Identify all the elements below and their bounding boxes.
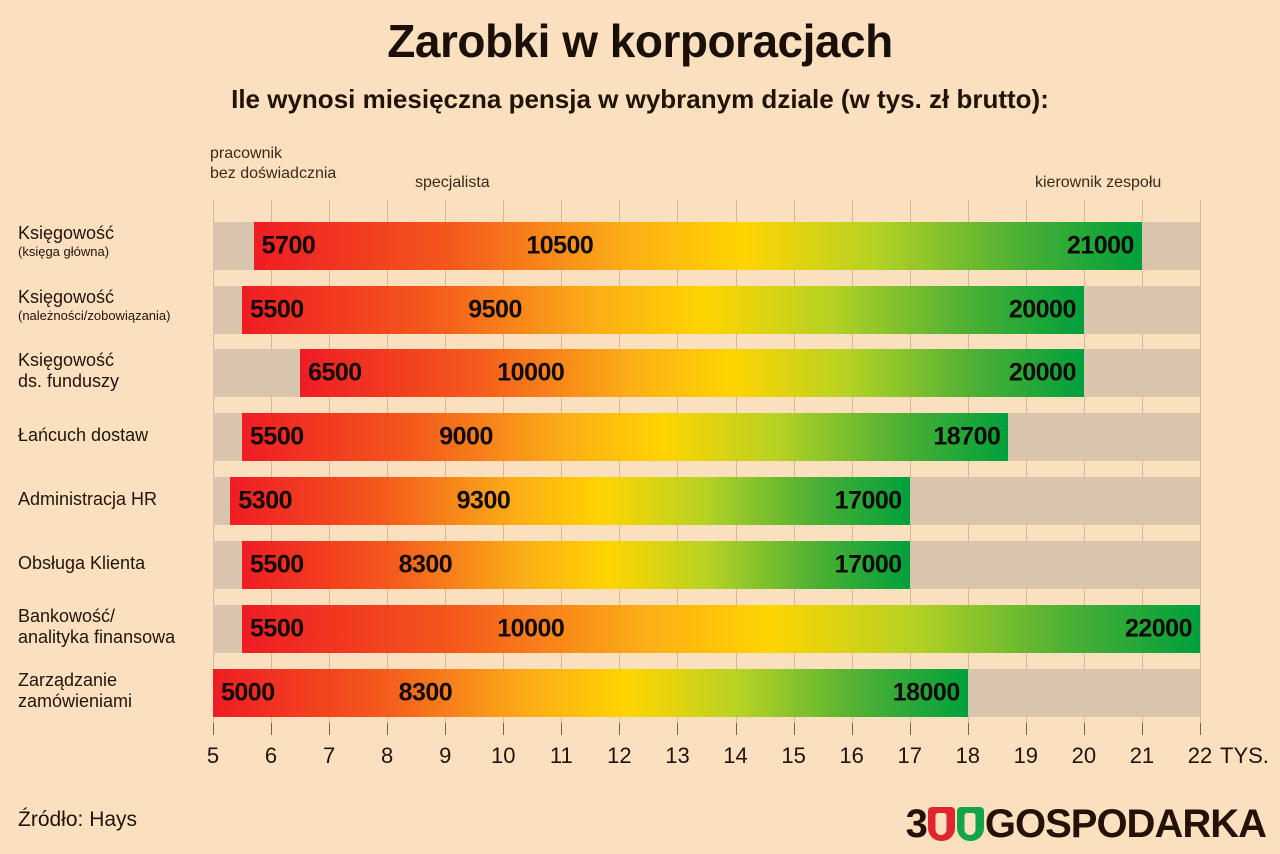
bar-row-track: 5300930017000 — [213, 477, 1200, 525]
salary-range-bar[interactable] — [242, 605, 1200, 653]
category-label: Księgowość(księga główna) — [18, 223, 218, 259]
axis-tick — [1026, 723, 1027, 735]
bar-row-track: 5000830018000 — [213, 669, 1200, 717]
bar-row-track: 55001000022000 — [213, 605, 1200, 653]
bar-value-max: 22000 — [1125, 615, 1192, 644]
bar-value-min: 5500 — [250, 296, 304, 325]
axis-unit-label: TYS. — [1220, 743, 1269, 769]
gridline — [445, 200, 446, 735]
salary-range-bar[interactable] — [300, 349, 1084, 397]
bar-value-mid: 8300 — [399, 679, 453, 708]
gridline — [1084, 200, 1085, 735]
bar-value-min: 5000 — [221, 679, 275, 708]
category-label-main: Księgowość — [18, 350, 218, 371]
category-label-sub: analityka finansowa — [18, 627, 218, 648]
bar-row-track: 5500830017000 — [213, 541, 1200, 589]
bar-value-max: 17000 — [835, 487, 902, 516]
page-subtitle: Ile wynosi miesięczna pensja w wybranym … — [0, 84, 1280, 115]
salary-range-bar[interactable] — [242, 286, 1084, 334]
axis-tick — [794, 723, 795, 735]
axis-tick — [736, 723, 737, 735]
category-label-main: Księgowość — [18, 287, 218, 308]
category-label-main: Obsługa Klienta — [18, 553, 218, 574]
bar-row-track: 65001000020000 — [213, 349, 1200, 397]
axis-tick — [329, 723, 330, 735]
axis-tick-label: 15 — [781, 743, 805, 769]
axis-tick — [1200, 723, 1201, 735]
bar-value-min: 5500 — [250, 423, 304, 452]
category-label: Obsługa Klienta — [18, 553, 218, 574]
gridline — [503, 200, 504, 735]
gridline — [852, 200, 853, 735]
gridline — [1026, 200, 1027, 735]
gridline — [736, 200, 737, 735]
category-label: Bankowość/analityka finansowa — [18, 606, 218, 647]
gridline — [271, 200, 272, 735]
axis-tick-label: 13 — [665, 743, 689, 769]
gridline — [968, 200, 969, 735]
axis-tick — [445, 723, 446, 735]
logo-zero-green-icon — [957, 807, 984, 841]
axis-tick-label: 21 — [1130, 743, 1154, 769]
category-label-main: Zarządzanie — [18, 670, 218, 691]
bar-value-mid: 9300 — [457, 487, 511, 516]
axis-tick — [1142, 723, 1143, 735]
axis-tick-label: 18 — [956, 743, 980, 769]
gridline — [1142, 200, 1143, 735]
axis-tick-label: 9 — [439, 743, 451, 769]
bar-row-track: 57001050021000 — [213, 222, 1200, 270]
bar-value-min: 5700 — [262, 232, 316, 261]
axis-tick-label: 10 — [491, 743, 515, 769]
gridline — [619, 200, 620, 735]
category-label-main: Księgowość — [18, 223, 218, 244]
bar-value-max: 21000 — [1067, 232, 1134, 261]
axis-tick — [271, 723, 272, 735]
bar-value-max: 20000 — [1009, 296, 1076, 325]
source-note: Źródło: Hays — [18, 808, 137, 832]
bar-value-min: 5300 — [238, 487, 292, 516]
axis-tick — [619, 723, 620, 735]
bar-row-track: 5500900018700 — [213, 413, 1200, 461]
bar-value-max: 18000 — [893, 679, 960, 708]
axis-tick-label: 12 — [607, 743, 631, 769]
bar-value-min: 5500 — [250, 551, 304, 580]
category-label-sub: zamówieniami — [18, 691, 218, 712]
category-label: Księgowośćds. funduszy — [18, 350, 218, 391]
column-header-specialist: specjalista — [415, 173, 490, 193]
axis-tick-label: 22 — [1188, 743, 1212, 769]
brand-logo: 3 GOSPODARKA — [906, 802, 1266, 846]
logo-suffix: GOSPODARKA — [985, 804, 1266, 844]
bar-value-min: 5500 — [250, 615, 304, 644]
logo-prefix: 3 — [906, 804, 927, 844]
gridline — [387, 200, 388, 735]
category-label-sub: (księga główna) — [18, 244, 218, 260]
category-label: Łańcuch dostaw — [18, 425, 218, 446]
gridline — [794, 200, 795, 735]
bar-value-min: 6500 — [308, 359, 362, 388]
axis-tick-label: 6 — [265, 743, 277, 769]
bar-value-max: 17000 — [835, 551, 902, 580]
salary-range-bar[interactable] — [242, 413, 1008, 461]
bar-row-track: 5500950020000 — [213, 286, 1200, 334]
column-header-lead: kierownik zespołu — [1035, 173, 1161, 193]
axis-tick — [968, 723, 969, 735]
gridline — [329, 200, 330, 735]
axis-tick — [213, 723, 214, 735]
category-label: Administracja HR — [18, 489, 218, 510]
gridline — [561, 200, 562, 735]
axis-tick — [677, 723, 678, 735]
salary-range-bar[interactable] — [254, 222, 1142, 270]
axis-tick-label: 11 — [550, 743, 573, 769]
bar-value-mid: 10000 — [497, 615, 564, 644]
axis-tick-label: 17 — [897, 743, 921, 769]
category-label: Księgowość(należności/zobowiązania) — [18, 287, 218, 323]
category-label-main: Łańcuch dostaw — [18, 425, 218, 446]
axis-tick — [1084, 723, 1085, 735]
axis-tick — [561, 723, 562, 735]
axis-tick — [910, 723, 911, 735]
bar-value-mid: 8300 — [399, 551, 453, 580]
category-label-sub: ds. funduszy — [18, 371, 218, 392]
axis-tick-label: 7 — [323, 743, 335, 769]
salary-range-bar[interactable] — [242, 541, 910, 589]
column-header-junior: pracownik bez doświadcznia — [210, 144, 336, 185]
axis-tick-label: 5 — [207, 743, 219, 769]
gridline — [910, 200, 911, 735]
axis-tick-label: 19 — [1014, 743, 1038, 769]
logo-zero-red-icon — [928, 807, 955, 841]
axis-tick-label: 8 — [381, 743, 393, 769]
bar-value-max: 18700 — [933, 423, 1000, 452]
category-label-sub: (należności/zobowiązania) — [18, 308, 218, 324]
category-label-main: Bankowość/ — [18, 606, 218, 627]
page-title: Zarobki w korporacjach — [0, 14, 1280, 68]
axis-tick — [503, 723, 504, 735]
salary-range-bar[interactable] — [213, 669, 968, 717]
x-axis: TYS. 5678910111213141516171819202122 — [213, 735, 1273, 775]
gridline — [1200, 200, 1201, 735]
bar-value-mid: 9000 — [439, 423, 493, 452]
gridline — [677, 200, 678, 735]
bar-value-max: 20000 — [1009, 359, 1076, 388]
salary-range-bar[interactable] — [230, 477, 909, 525]
infographic-root: Zarobki w korporacjach Ile wynosi miesię… — [0, 0, 1280, 854]
chart-plot-area: 5700105002100055009500200006500100002000… — [213, 200, 1200, 735]
axis-tick — [387, 723, 388, 735]
bar-value-mid: 10500 — [526, 232, 593, 261]
gridline — [213, 200, 214, 735]
axis-tick — [852, 723, 853, 735]
category-label-main: Administracja HR — [18, 489, 218, 510]
axis-tick-label: 16 — [839, 743, 863, 769]
axis-tick-label: 14 — [723, 743, 747, 769]
bar-value-mid: 10000 — [497, 359, 564, 388]
axis-tick-label: 20 — [1072, 743, 1096, 769]
category-label: Zarządzaniezamówieniami — [18, 670, 218, 711]
bar-value-mid: 9500 — [468, 296, 522, 325]
